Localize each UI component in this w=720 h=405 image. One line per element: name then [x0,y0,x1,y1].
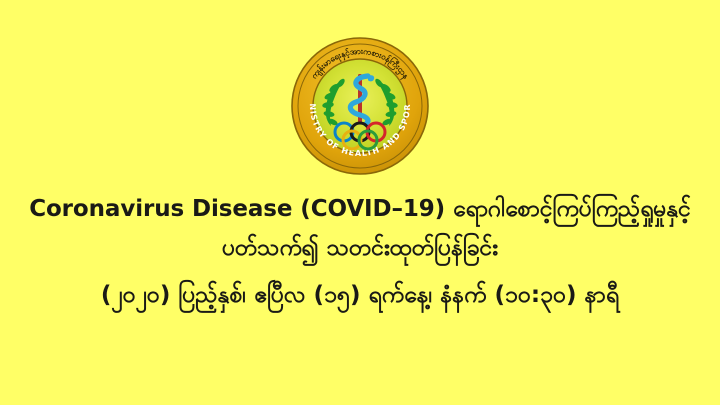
announcement-text-block: Coronavirus Disease (COVID–19) ရောဂါစောင… [0,198,720,307]
covid-press-release-poster: ကျန်းမာရေးနှင့်အားကစားဝန်ကြီးဌာန MINISTR… [0,0,720,405]
announcement-dateline: (၂၀၂၀) ပြည့်နှစ်၊ ဧပြီလ (၁၅) ရက်နေ့၊ နံန… [0,284,720,307]
ministry-seal-logo: ကျန်းမာရေးနှင့်အားကစားဝန်ကြီးဌာန MINISTR… [290,36,430,176]
announcement-headline-line-1: Coronavirus Disease (COVID–19) ရောဂါစောင… [0,198,720,221]
announcement-headline-line-2: ပတ်သက်၍ သတင်းထုတ်ပြန်ခြင်း [0,237,720,260]
